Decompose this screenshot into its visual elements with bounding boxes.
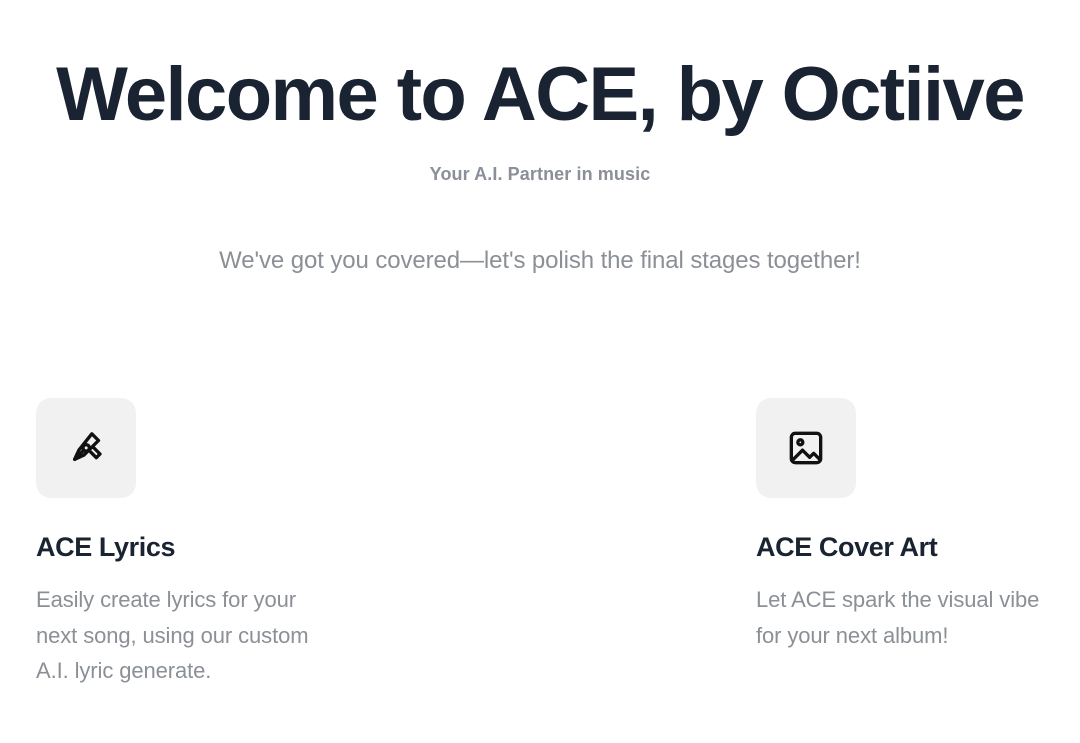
- image-icon: [786, 428, 826, 468]
- feature-list: ACE Lyrics Easily create lyrics for your…: [36, 398, 1046, 689]
- feature-description: Easily create lyrics for your next song,…: [36, 582, 326, 689]
- pen-tool-icon: [66, 428, 106, 468]
- feature-card-ace-lyrics[interactable]: ACE Lyrics Easily create lyrics for your…: [36, 398, 326, 689]
- welcome-page: Welcome to ACE, by Octiive Your A.I. Par…: [0, 0, 1080, 743]
- image-icon-tile: [756, 398, 856, 498]
- hero-tagline: We've got you covered—let's polish the f…: [0, 247, 1080, 275]
- feature-card-ace-cover-art[interactable]: ACE Cover Art Let ACE spark the visual v…: [756, 398, 1046, 689]
- hero-subtitle: Your A.I. Partner in music: [0, 164, 1080, 185]
- hero-section: Welcome to ACE, by Octiive Your A.I. Par…: [0, 56, 1080, 275]
- pen-tool-icon-tile: [36, 398, 136, 498]
- page-title: Welcome to ACE, by Octiive: [0, 56, 1080, 134]
- feature-title: ACE Cover Art: [756, 532, 1046, 563]
- feature-title: ACE Lyrics: [36, 532, 326, 563]
- feature-description: Let ACE spark the visual vibe for your n…: [756, 582, 1046, 653]
